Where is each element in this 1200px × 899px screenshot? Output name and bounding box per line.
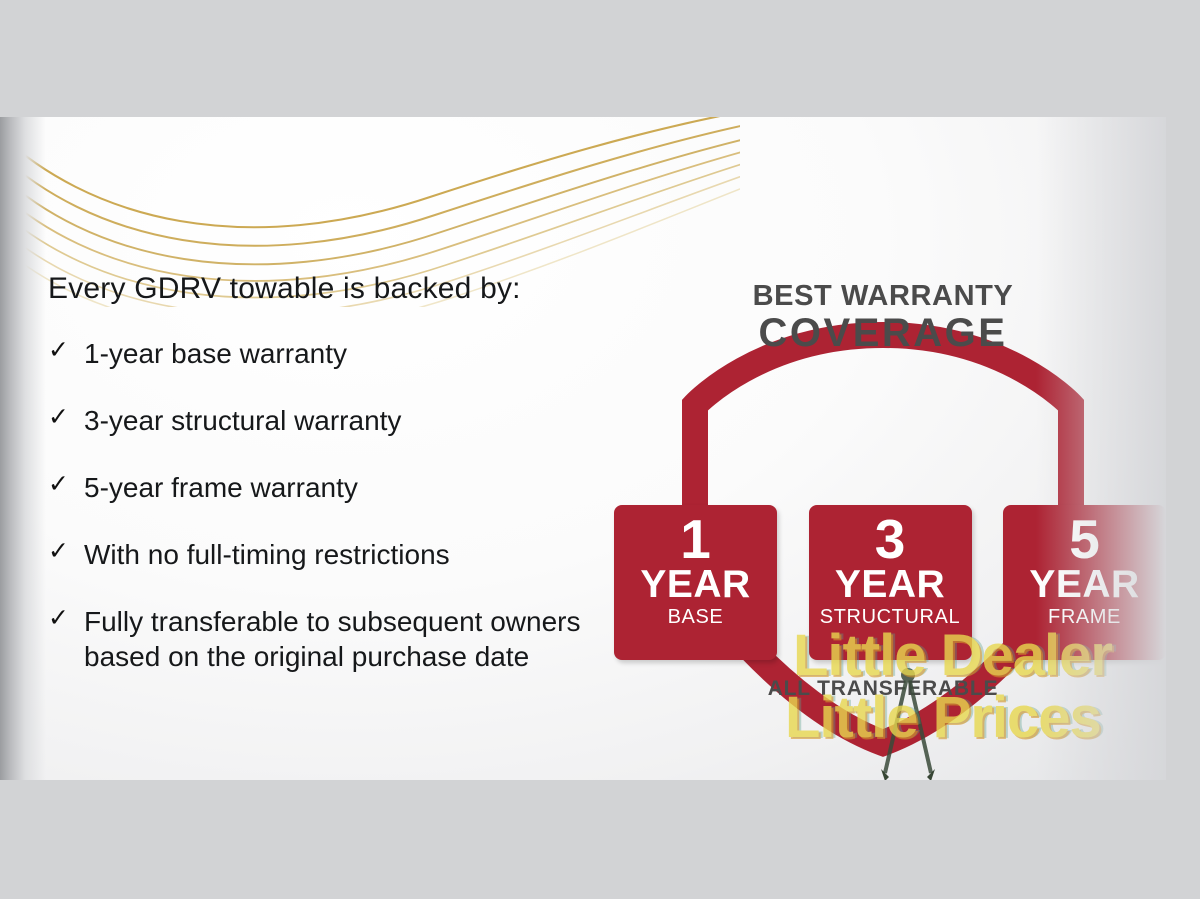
check-icon: ✓ [48,403,84,433]
warranty-copy: Every GDRV towable is backed by: ✓ 1-yea… [48,272,648,706]
list-item-label: 3-year structural warranty [84,403,401,438]
check-icon: ✓ [48,470,84,500]
warranty-shield-badge: BEST WARRANTY COVERAGE 1 YEAR BASE 3 YEA… [600,227,1166,757]
list-item: ✓ 5-year frame warranty [48,470,648,505]
year-word: YEAR [835,566,945,603]
year-box-base: 1 YEAR BASE [614,505,777,660]
check-icon: ✓ [48,336,84,366]
check-icon: ✓ [48,537,84,567]
list-item-label: 1-year base warranty [84,336,347,371]
year-label: STRUCTURAL [820,603,960,632]
list-item-label: Fully transferable to subsequent owners … [84,604,614,674]
year-box-row: 1 YEAR BASE 3 YEAR STRUCTURAL 5 YEAR FRA… [614,505,1166,660]
year-word: YEAR [640,566,750,603]
list-item: ✓ With no full-timing restrictions [48,537,648,572]
list-item-label: 5-year frame warranty [84,470,358,505]
year-number: 5 [1069,513,1100,566]
year-label: FRAME [1048,603,1121,632]
check-icon: ✓ [48,604,84,634]
left-edge-shadow [0,117,46,780]
list-item: ✓ 3-year structural warranty [48,403,648,438]
badge-heading: BEST WARRANTY COVERAGE [600,282,1166,353]
list-item: ✓ Fully transferable to subsequent owner… [48,604,648,674]
year-label: BASE [668,603,724,632]
year-box-structural: 3 YEAR STRUCTURAL [809,505,972,660]
list-item-label: With no full-timing restrictions [84,537,450,572]
page-title: Every GDRV towable is backed by: [48,272,648,306]
list-item: ✓ 1-year base warranty [48,336,648,371]
badge-heading-line1: BEST WARRANTY [600,282,1166,311]
badge-heading-line2: COVERAGE [600,313,1166,353]
slide-canvas: Every GDRV towable is backed by: ✓ 1-yea… [0,0,1200,899]
year-number: 3 [875,513,906,566]
year-number: 1 [680,513,711,566]
year-word: YEAR [1029,566,1139,603]
badge-footer-text: ALL TRANSFERABLE [600,677,1166,701]
slide-content: Every GDRV towable is backed by: ✓ 1-yea… [0,117,1166,780]
year-box-frame: 5 YEAR FRAME [1003,505,1166,660]
